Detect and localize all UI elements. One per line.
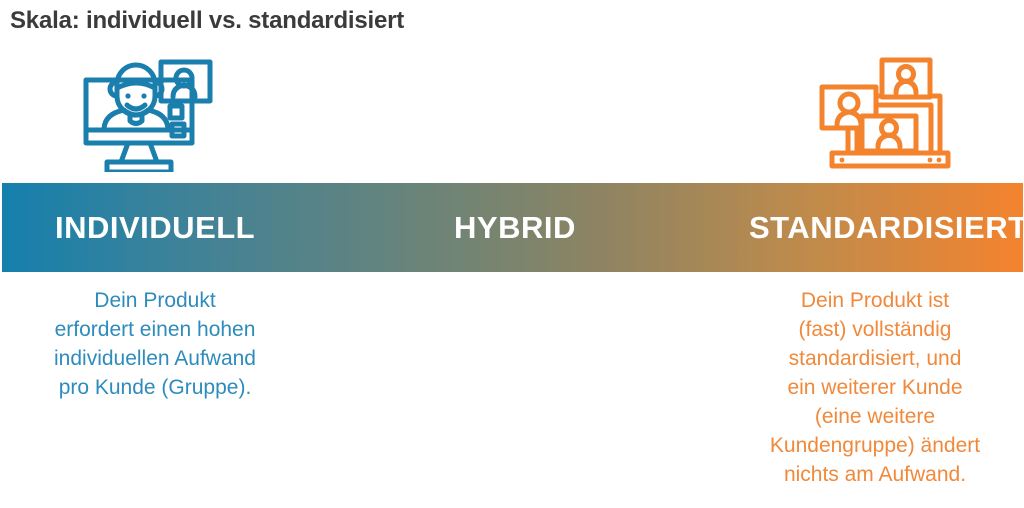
scale-label-hybrid: HYBRID — [454, 183, 576, 272]
scale-gradient-bar: INDIVIDUELL HYBRID STANDARDISIERT — [2, 183, 1023, 272]
description-individual: Dein Produkt erfordert einen hohen indiv… — [10, 286, 300, 402]
description-standard-line-4: ein weiterer Kunde — [735, 373, 1015, 402]
description-standard-line-3: standardisiert, und — [735, 344, 1015, 373]
individual-consultation-icon-svg — [80, 54, 216, 172]
description-standard-line-6: Kundengruppe) ändert — [735, 431, 1015, 460]
scale-label-standardisiert: STANDARDISIERT — [749, 183, 1024, 272]
standardized-group-icon — [808, 52, 968, 174]
description-individual-line-4: pro Kunde (Gruppe). — [10, 373, 300, 402]
description-standard-line-1: Dein Produkt ist — [735, 286, 1015, 315]
description-standard-line-5: (eine weitere — [735, 402, 1015, 431]
individual-consultation-icon — [68, 52, 228, 174]
description-standard-line-7: nichts am Aufwand. — [735, 460, 1015, 489]
page-title: Skala: individuell vs. standardisiert — [10, 7, 404, 35]
description-standard: Dein Produkt ist (fast) vollständig stan… — [735, 286, 1015, 489]
description-standard-line-2: (fast) vollständig — [735, 315, 1015, 344]
standardized-group-icon-svg — [818, 54, 958, 172]
description-individual-line-3: individuellen Aufwand — [10, 344, 300, 373]
description-individual-line-2: erfordert einen hohen — [10, 315, 300, 344]
scale-label-individuell: INDIVIDUELL — [55, 183, 255, 272]
description-individual-line-1: Dein Produkt — [10, 286, 300, 315]
